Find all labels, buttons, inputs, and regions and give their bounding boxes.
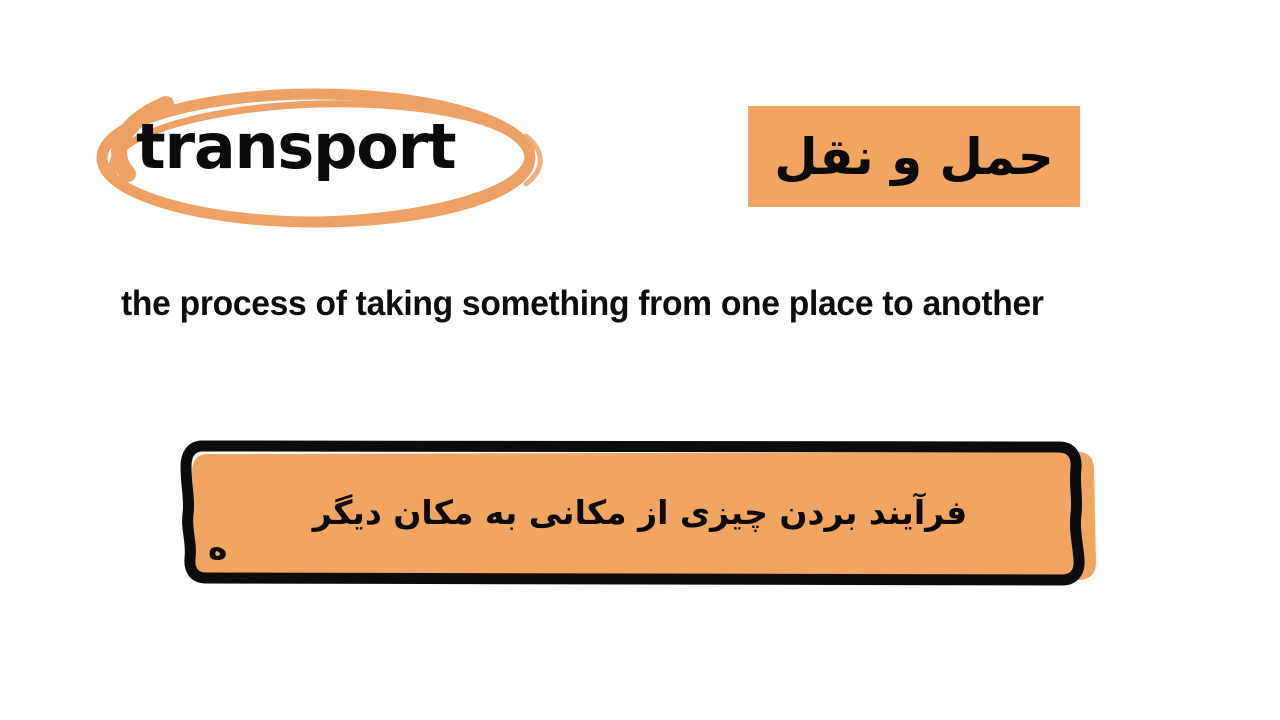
translation-term-fa: حمل و نقل (774, 132, 1053, 182)
definition-persian: فرآیند بردن چیزی از مکانی به مکان دیگر (210, 494, 1070, 533)
translation-chip: حمل و نقل (748, 106, 1080, 207)
headword-block: transport (88, 78, 568, 248)
definition-persian-overflow-glyph: ه (208, 531, 227, 564)
definition-persian-banner: فرآیند بردن چیزی از مکانی به مکان دیگر ه (180, 438, 1100, 593)
definition-english: the process of taking something from one… (121, 281, 1091, 327)
headword-term: transport (136, 116, 536, 178)
vocabulary-card-slide: transport حمل و نقل the process of takin… (0, 0, 1280, 720)
